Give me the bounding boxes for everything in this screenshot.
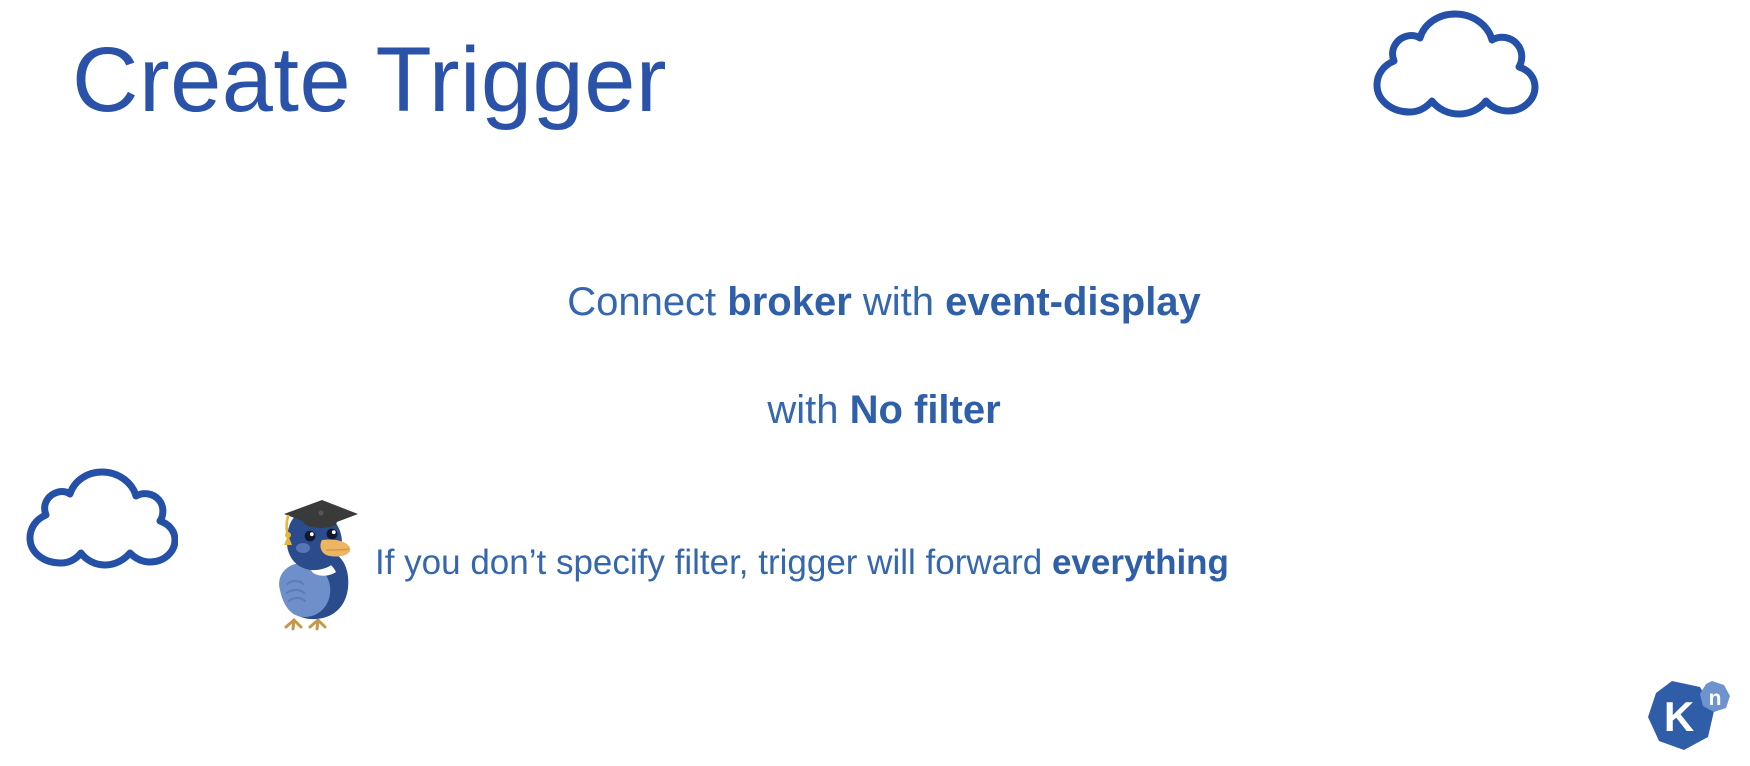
filter-no-filter-emphasis: No filter <box>850 388 1001 432</box>
connect-event-display-emphasis: event-display <box>945 280 1201 324</box>
connect-prefix: Connect <box>567 280 727 324</box>
knative-letter-k: K <box>1664 693 1694 740</box>
cloud-outline-icon <box>1363 8 1539 120</box>
slide-canvas: Create Trigger Connect broker with event… <box>0 0 1750 766</box>
cloud-outline-icon <box>18 467 178 571</box>
note-prefix: If you don’t specify filter, trigger wil… <box>375 543 1052 582</box>
filter-prefix: with <box>767 388 849 432</box>
knative-letter-n: n <box>1709 687 1722 710</box>
text-connect-line: Connect broker with event-display <box>0 278 1750 326</box>
connect-broker-emphasis: broker <box>727 280 852 324</box>
text-filter-line: with No filter <box>0 386 1750 434</box>
connect-middle: with <box>852 280 945 324</box>
graduate-bird-mascot-icon <box>266 498 358 632</box>
text-note-line: If you don’t specify filter, trigger wil… <box>375 542 1229 584</box>
note-everything-emphasis: everything <box>1052 543 1229 582</box>
page-title: Create Trigger <box>72 34 667 126</box>
knative-logo: K n <box>1638 673 1734 759</box>
